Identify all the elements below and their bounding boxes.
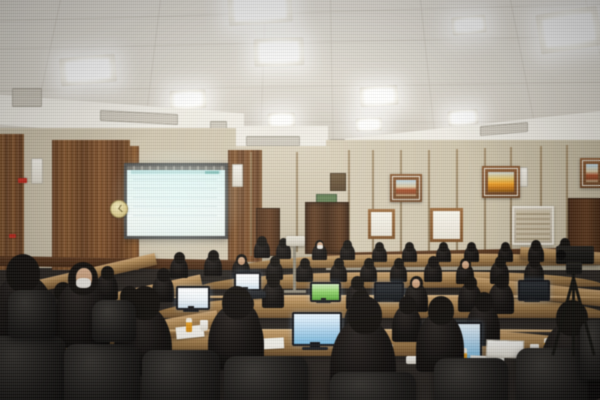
head [334, 258, 344, 269]
face-mask [76, 278, 91, 288]
light-panel-10 [451, 14, 487, 35]
head [300, 258, 310, 269]
head [495, 274, 509, 289]
head [394, 258, 404, 269]
chair-10[interactable] [580, 320, 600, 380]
head [405, 242, 414, 252]
wall-speaker-back-left [330, 173, 346, 191]
fire-alarm-strobe [18, 178, 27, 183]
framed-picture-right-image [488, 172, 514, 192]
head [495, 256, 506, 268]
chair-3[interactable] [142, 350, 220, 400]
head [267, 274, 280, 288]
wall-clock [110, 200, 128, 218]
juice-bottle-3 [186, 318, 192, 332]
light-panel-1 [227, 0, 293, 26]
monitor-4-base [316, 301, 331, 303]
face [412, 279, 420, 288]
chair-4[interactable] [224, 356, 308, 400]
head [475, 292, 493, 312]
wall-whiteboard[interactable] [430, 208, 463, 242]
framed-picture-far-right-mat [582, 160, 600, 186]
light-panel-5 [170, 89, 207, 110]
screen-text-lines [133, 179, 217, 221]
attendee-rear-4 [340, 240, 355, 260]
light-panel-2 [59, 54, 117, 87]
ceiling-diffuser-1 [12, 88, 42, 107]
wall-notice-surface [371, 212, 392, 236]
paper-cup-3 [200, 320, 208, 331]
video-camera-lens [556, 250, 566, 260]
framed-picture-left-mat [392, 176, 420, 200]
ceiling-vent-center [246, 136, 300, 146]
face [238, 257, 245, 265]
wall-divider-10 [250, 152, 252, 256]
wall-divider-6 [484, 148, 486, 254]
monitor-1-base [183, 310, 200, 312]
head [529, 256, 540, 268]
monitor-2-base [302, 347, 328, 350]
chair-5[interactable] [330, 372, 416, 400]
head [375, 242, 384, 252]
head [174, 252, 185, 264]
attendee-row3-5 [330, 258, 347, 282]
wall-speaker-left [31, 158, 43, 184]
head [257, 236, 267, 247]
head [501, 242, 510, 252]
head [270, 256, 280, 267]
attendee-rear-3 [312, 240, 327, 260]
head [467, 242, 476, 252]
chair-2[interactable] [64, 344, 140, 400]
head [428, 256, 439, 268]
attendee-rear-1 [254, 236, 270, 258]
light-panel-6 [359, 85, 398, 108]
head [343, 240, 352, 250]
wall-whiteboard-surface [433, 211, 460, 239]
light-panel-3 [254, 37, 305, 67]
head [351, 276, 364, 290]
framed-picture-far-right [580, 158, 600, 188]
head [464, 276, 477, 290]
light-panel-8 [356, 117, 383, 131]
chair-6[interactable] [434, 358, 508, 400]
framed-picture-right-mat [484, 168, 518, 196]
head [208, 250, 219, 262]
head [348, 296, 382, 334]
attendee-row3-1 [204, 250, 222, 276]
attendee-row3-4 [296, 258, 313, 282]
wood-paneling-screen-left [0, 134, 24, 270]
wall-speaker-right [232, 164, 243, 187]
chair-7[interactable] [516, 348, 588, 400]
head [531, 240, 541, 251]
face-mask [317, 245, 323, 249]
head [439, 242, 448, 252]
projector-stand-base [284, 290, 306, 293]
projector [286, 236, 305, 246]
framed-picture-left [390, 174, 422, 202]
projector-stand-pole [293, 246, 296, 292]
chair-1[interactable] [0, 336, 66, 400]
projection-screen[interactable] [127, 166, 225, 236]
chair-8[interactable] [8, 290, 56, 338]
screen-document-badge [205, 171, 219, 175]
monitor-1[interactable] [176, 286, 206, 312]
face [462, 261, 469, 269]
fire-alarm-strobe-2 [9, 234, 16, 238]
head [428, 296, 454, 325]
framed-picture-right [482, 166, 520, 198]
lecture-hall-photograph: Lecture hall training session university… [0, 0, 600, 400]
framed-picture-left-image [396, 180, 416, 196]
monitor-9[interactable] [518, 280, 546, 302]
wall-notice-frame [368, 209, 395, 239]
head [157, 268, 170, 282]
framed-picture-far-right-image [586, 164, 598, 182]
head [222, 286, 252, 319]
head [364, 258, 374, 269]
head [6, 254, 40, 292]
head [399, 296, 416, 314]
light-panel-9 [447, 109, 478, 127]
monitor-9-base [524, 300, 540, 302]
chair-9[interactable] [92, 300, 136, 342]
